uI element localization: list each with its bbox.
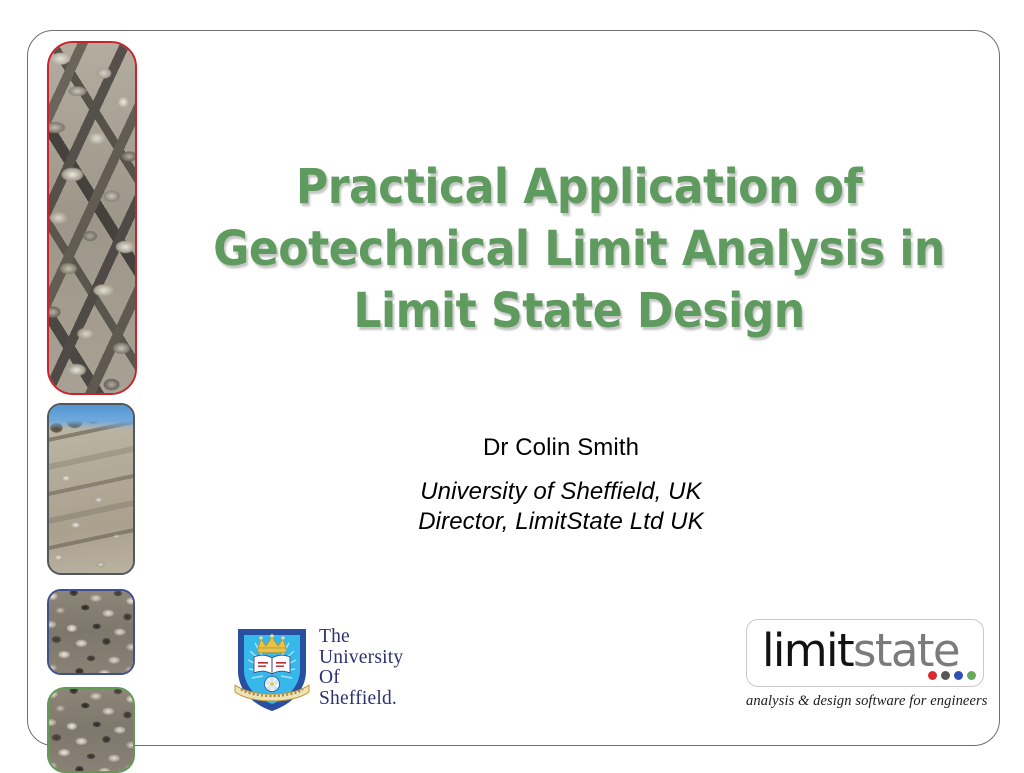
title-line-2: Geotechnical Limit Analysis in	[202, 218, 956, 280]
gravel-texture	[47, 589, 135, 675]
thumbnail-gravel-aggregate	[47, 589, 135, 675]
limitstate-word-limit: limit	[762, 624, 853, 677]
title-line-1: Practical Application of	[202, 156, 956, 218]
slide-title: Practical Application of Geotechnical Li…	[202, 156, 956, 342]
author-name: Dr Colin Smith	[301, 431, 821, 465]
dot-red	[928, 671, 937, 680]
photo-strip	[47, 41, 139, 753]
dot-blue	[954, 671, 963, 680]
author-affiliation-line-1: University of Sheffield, UK	[301, 477, 821, 507]
dot-gray	[941, 671, 950, 680]
wordmark-line-2: University	[319, 648, 403, 669]
title-line-3: Limit State Design	[202, 280, 956, 342]
slide-frame: Practical Application of Geotechnical Li…	[27, 30, 1000, 746]
wordmark-line-1: The	[319, 627, 403, 648]
university-of-sheffield-crest-icon	[233, 623, 311, 715]
thumbnail-crushed-rock-rubble	[47, 41, 137, 395]
crown-icon	[258, 634, 286, 652]
wordmark-line-3: Of	[319, 668, 403, 689]
crushed-rock-texture	[47, 41, 137, 395]
wordmark-line-4: Sheffield.	[319, 689, 403, 710]
gravel-texture-2	[47, 687, 135, 773]
author-affiliation-line-2: Director, LimitState Ltd UK	[301, 507, 821, 537]
university-of-sheffield-logo: The University Of Sheffield.	[233, 621, 433, 717]
rocky-slope-texture	[47, 403, 135, 575]
dot-green	[967, 671, 976, 680]
open-book-icon	[254, 655, 290, 674]
limitstate-dots	[928, 671, 976, 680]
white-rose-icon	[265, 677, 280, 692]
limitstate-word-state: state	[853, 624, 959, 677]
thumbnail-rocky-slope-with-trees	[47, 403, 135, 575]
sheffield-wordmark: The University Of Sheffield.	[319, 627, 403, 709]
limitstate-logo: limitstate analysis & design software fo…	[746, 619, 990, 727]
limitstate-tagline: analysis & design software for engineers	[746, 693, 984, 710]
thumbnail-gravel-aggregate-2	[47, 687, 135, 773]
author-block: Dr Colin Smith University of Sheffield, …	[301, 431, 821, 537]
